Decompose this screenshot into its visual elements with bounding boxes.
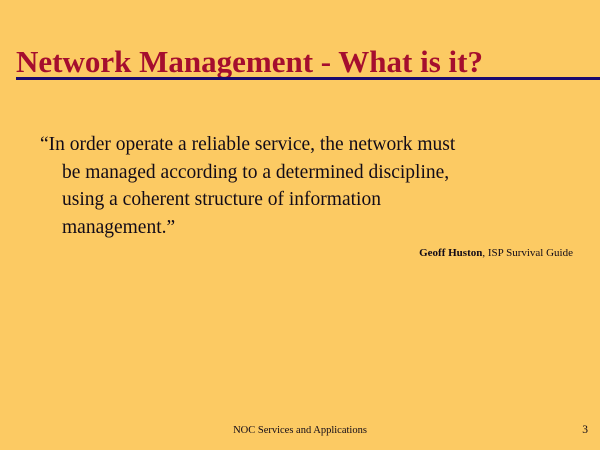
quote-block: “In order operate a reliable service, th… (40, 131, 585, 241)
attribution-author: Geoff Huston (419, 247, 482, 259)
footer-deck-title: NOC Services and Applications (0, 424, 600, 438)
quote-line-3: using a coherent structure of informatio… (40, 186, 585, 214)
slide: Network Management - What is it? “In ord… (0, 0, 600, 450)
quote-line-1: “In order operate a reliable service, th… (40, 131, 585, 159)
footer-page-number: 3 (582, 423, 588, 438)
page-title: Network Management - What is it? (16, 43, 588, 81)
title-divider-rule (16, 77, 600, 80)
quote-line-2: be managed according to a determined dis… (40, 159, 585, 187)
quote-attribution: Geoff Huston, ISP Survival Guide (0, 246, 573, 260)
attribution-source: , ISP Survival Guide (482, 247, 573, 259)
quote-line-4: management.” (40, 214, 585, 242)
